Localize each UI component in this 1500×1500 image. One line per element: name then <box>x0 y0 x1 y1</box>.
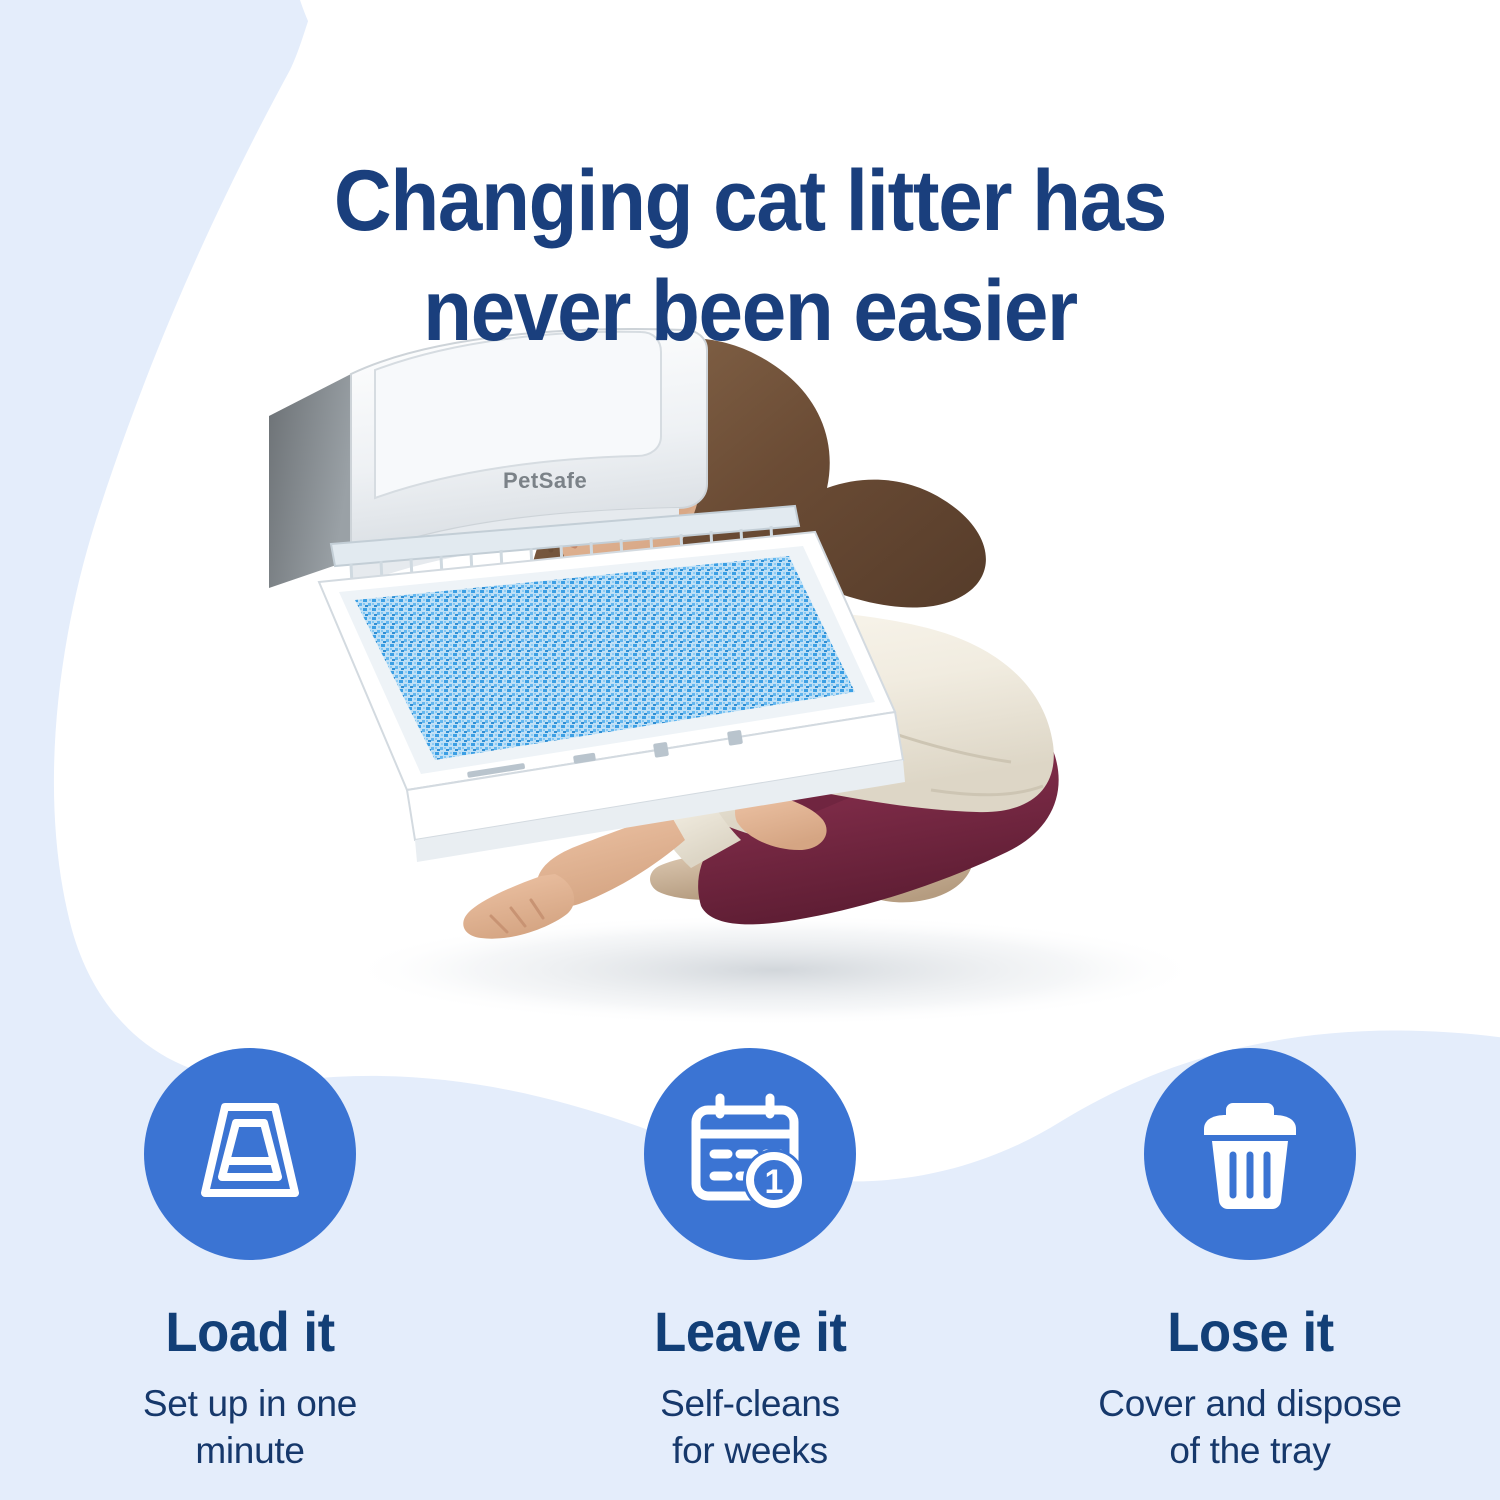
feature-title: Leave it <box>654 1304 846 1360</box>
feature-subtitle: Self-cleans for weeks <box>660 1380 840 1475</box>
tray-inner-outline <box>222 1123 278 1177</box>
trash-handle <box>1226 1103 1274 1115</box>
feature-row: Load it Set up in one minute <box>0 1048 1500 1500</box>
page-title: Changing cat litter has never been easie… <box>53 146 1448 366</box>
product-brand-label: PetSafe <box>503 468 587 493</box>
feature-subtitle: Cover and dispose of the tray <box>1098 1380 1401 1475</box>
calendar-badge-number: 1 <box>765 1163 784 1201</box>
feature-lose-it[interactable]: Lose it Cover and dispose of the tray <box>1000 1048 1500 1500</box>
trash-can-icon <box>1188 1089 1312 1219</box>
feature-title: Load it <box>165 1304 334 1360</box>
calendar-one-icon: 1 <box>684 1088 816 1220</box>
litter-tray-icon <box>185 1089 315 1219</box>
feature-load-it[interactable]: Load it Set up in one minute <box>0 1048 500 1500</box>
feature-icon-badge-load <box>144 1048 356 1260</box>
feature-icon-badge-lose <box>1144 1048 1356 1260</box>
marketing-infographic: Changing cat litter has never been easie… <box>0 0 1500 1500</box>
feature-leave-it[interactable]: 1 Leave it Self-cleans for weeks <box>500 1048 1000 1500</box>
feature-icon-badge-leave: 1 <box>644 1048 856 1260</box>
feature-subtitle: Set up in one minute <box>143 1380 357 1475</box>
feature-title: Lose it <box>1167 1304 1333 1360</box>
trash-lid <box>1204 1115 1296 1135</box>
hero-photo: PetSafe <box>255 320 1270 1040</box>
